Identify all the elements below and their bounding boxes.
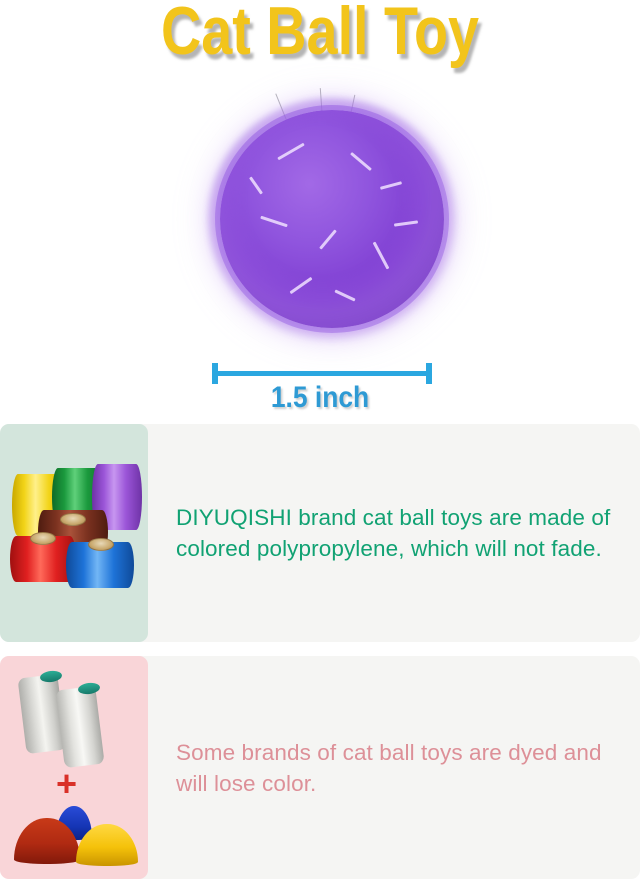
feature-panel-bad: + Some brands of cat ball toys are dyed … <box>0 656 640 879</box>
size-dimension-indicator: 1.5 inch <box>0 360 640 424</box>
dimension-label: 1.5 inch <box>38 382 601 414</box>
spool-core <box>60 513 86 526</box>
pom-pom-ball <box>198 88 466 350</box>
dimension-end-cap-right <box>426 363 432 384</box>
panel-bad-body: Some brands of cat ball toys are dyed an… <box>148 656 640 879</box>
feature-text-good: DIYUQISHI brand cat ball toys are made o… <box>176 502 634 564</box>
feature-panel-good: DIYUQISHI brand cat ball toys are made o… <box>0 424 640 642</box>
cone-cap-left <box>39 670 62 684</box>
pom-pom-fuzz <box>208 98 456 340</box>
dimension-line <box>215 371 429 376</box>
panel-good-body: DIYUQISHI brand cat ball toys are made o… <box>148 424 640 642</box>
hero-product-image <box>0 72 640 360</box>
thumbnail-colored-yarn-spools <box>0 424 148 642</box>
blue-spool <box>66 542 134 588</box>
page-title: Cat Ball Toy <box>58 0 583 66</box>
spool-core <box>30 532 56 545</box>
page-header: Cat Ball Toy <box>0 0 640 72</box>
cone-cap-right <box>77 682 100 696</box>
spool-core <box>88 538 114 551</box>
feature-text-bad: Some brands of cat ball toys are dyed an… <box>176 737 634 799</box>
white-yarn-cone-right <box>55 686 104 768</box>
thumbnail-dyed-yarn: + <box>0 656 148 879</box>
plus-icon: + <box>56 766 77 802</box>
